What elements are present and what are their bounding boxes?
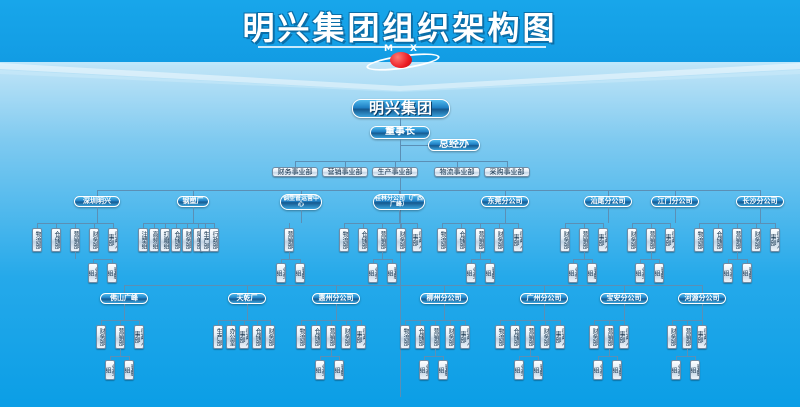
subgroup-node-label: 业务组 [593,362,603,378]
department-node-label: 财务部 [447,328,453,346]
department-node[interactable]: 行政人事部 [770,228,780,252]
department-node[interactable]: 行政部 [209,228,219,252]
subgroup-node-label: 业务组 [671,362,681,378]
division-node-label: 生产事业部 [378,167,413,177]
org-chart-poster: 明兴集团组织架构图 M X 明兴集团董事长总经办财务事业部营销事业部生产事业部物… [0,0,800,407]
subgroup-node-label: 客服组 [387,265,397,281]
subgroup-node-label: 业务组 [419,362,429,378]
subgroup-node[interactable]: 业务组 [315,360,325,380]
department-node[interactable]: 行政人事部 [134,325,144,349]
connector-tier1-bus [97,190,760,191]
branch-node-tier1-label: 汕尾分公司 [591,198,626,205]
subgroup-node[interactable]: 业务组 [568,263,578,283]
subgroup-node-label: 业务组 [88,265,98,281]
connector-branch-down [247,304,248,320]
department-node-label: 行政人事部 [697,327,707,347]
connector-to-subgroups [737,252,738,259]
department-node-label: 物流部 [402,328,408,346]
connector-branch-down [301,210,302,223]
subgroup-node-label: 客服组 [690,362,700,378]
department-node[interactable]: 生产部 [213,325,223,349]
subgroup-node[interactable]: 业务组 [514,360,524,380]
department-node-label: 物流部 [497,328,503,346]
connector-branch-down [193,207,194,223]
subgroup-node-label: 客服组 [107,265,117,281]
branch-node-tier2[interactable]: 广州分公司 [520,293,568,304]
department-node-label: 行政人事部 [239,327,249,347]
subgroup-node[interactable]: 客服组 [334,360,344,380]
department-node[interactable]: 行政人事部 [412,228,422,252]
department-node[interactable]: 营销部 [377,228,387,252]
department-node[interactable]: 财务部 [445,325,455,349]
subgroup-node[interactable]: 业务组 [671,360,681,380]
department-node[interactable]: 行政人事部 [356,325,366,349]
branch-node-tier1[interactable]: 汕尾分公司 [584,196,632,207]
department-node-label: 行政人事部 [665,230,675,250]
department-node[interactable]: 营销部 [682,325,692,349]
subgroup-node[interactable]: 业务组 [105,360,115,380]
connector-to-subgroups [382,252,383,259]
department-node[interactable]: 行政人事部 [239,325,249,349]
department-node-label: 物流部 [439,231,445,249]
subgroup-node-label: 客服组 [485,265,495,281]
department-node-label: 高频组 [151,231,157,249]
division-node: 采购事业部 [484,167,530,177]
department-node[interactable]: 营销部 [326,325,336,349]
department-node-label: 行政人事部 [108,230,118,250]
branch-node-tier2-label: 惠州分公司 [319,295,354,302]
branch-node-tier2-label: 广州分公司 [527,295,562,302]
connector-branch-down [97,207,98,223]
subgroup-node[interactable]: 客服组 [485,263,495,283]
department-node-label: 财务部 [496,231,502,249]
department-node[interactable]: 营销部 [646,228,656,252]
branch-node-tier2[interactable]: 佛山广峰 [100,293,148,304]
branch-node-tier2-label: 宝安分公司 [607,295,642,302]
department-node-label: 仓储部 [360,231,366,249]
department-node-label: 行政人事部 [513,230,523,250]
department-node[interactable]: 仓储部 [171,228,181,252]
department-node-label: 生产部 [215,328,221,346]
connector-subgroup-bus [110,356,129,357]
division-node-label: 财务事业部 [278,167,313,177]
department-node[interactable]: 行政人事部 [619,325,629,349]
subgroup-node-label: 业务组 [635,265,645,281]
branch-node-tier2-label: 佛山广峰 [110,295,138,302]
department-node-label: 仓储部 [458,231,464,249]
node-chairman-label: 董事长 [385,127,415,138]
subgroup-node[interactable]: 业务组 [593,360,603,380]
department-node-label: 财务部 [591,328,597,346]
branch-node-tier1-label: 东莞分公司 [488,198,523,205]
department-node[interactable]: 营销部 [430,325,440,349]
subgroup-node[interactable]: 客服组 [107,263,117,283]
subgroup-node[interactable]: 客服组 [124,360,134,380]
department-node[interactable]: 注塑组 [138,228,148,252]
subgroup-node[interactable]: 客服组 [295,263,305,283]
branch-node-tier1-label: 深圳明兴 [83,198,111,205]
division-node-label: 采购事业部 [490,167,525,177]
department-node[interactable]: 物流部 [296,325,306,349]
connector-divisions-bus [295,161,507,162]
subgroup-node[interactable]: 客服组 [438,360,448,380]
department-node-label: 营销部 [606,328,612,346]
department-node-label: 营销部 [117,328,123,346]
department-node-label: 物流部 [696,231,702,249]
department-node[interactable]: 营销部 [604,325,614,349]
branch-node-tier1[interactable]: 深圳明兴 [74,196,120,207]
department-node[interactable]: 营销部 [525,325,535,349]
department-node[interactable]: 物流部 [339,228,349,252]
connector-branch-down [444,304,445,320]
department-node-label: 财务部 [542,328,548,346]
subgroup-node[interactable]: 业务组 [419,360,429,380]
department-node-label: 财务部 [91,231,97,249]
connector-branch-down [675,207,676,223]
branch-node-tier2-label: 柳州分公司 [427,295,462,302]
connector-to-subgroups [480,252,481,259]
department-node[interactable]: 营销部 [115,325,125,349]
department-node[interactable]: 仓储部 [358,228,368,252]
division-node: 营销事业部 [322,167,368,177]
department-node[interactable]: 仓储部 [456,228,466,252]
department-node-label: 打磨组 [162,231,168,249]
subgroup-node[interactable]: 客服组 [533,360,543,380]
division-node: 生产事业部 [372,167,418,177]
division-node-label: 营销事业部 [328,167,363,177]
subgroup-node-label: 业务组 [315,362,325,378]
department-node-label: 仓储部 [417,328,423,346]
department-node[interactable]: 财务部 [751,228,761,252]
department-node-label: 仓储部 [512,328,518,346]
department-node-label: 注塑组 [140,231,146,249]
department-node-label: 生产部 [202,231,208,249]
connector-branch-down [608,207,609,223]
subgroup-node[interactable]: 客服组 [654,263,664,283]
subgroup-node-label: 客服组 [533,362,543,378]
department-node-label: 财务部 [562,231,568,249]
connector-subgroup-bus [424,356,443,357]
department-node-label: 物流部 [34,231,40,249]
department-node-label: 仓储部 [313,328,319,346]
connector-subgroup-bus [676,356,695,357]
connector-subgroup-bus [573,259,592,260]
department-node-label: 仓储部 [715,231,721,249]
department-node-label: 行政人事部 [134,327,144,347]
department-node-label: 营销部 [286,231,292,249]
subgroup-node[interactable]: 业务组 [723,263,733,283]
department-node[interactable]: 营销部 [579,228,589,252]
connector-to-subgroups [289,252,290,259]
department-node-label: 财务部 [753,231,759,249]
department-node[interactable]: 打磨组 [160,228,170,252]
department-node[interactable]: 物流部 [495,325,505,349]
connector-branch-down [760,207,761,223]
department-node[interactable]: 仓储部 [51,228,61,252]
connector-tier2-stem [544,285,545,293]
department-node[interactable]: 仓储部 [415,325,425,349]
department-node-label: 营销部 [432,328,438,346]
subgroup-node-label: 客服组 [587,265,597,281]
connector-tier2-stem [124,285,125,293]
subgroup-node[interactable]: 业务组 [368,263,378,283]
department-node-label: 行政人事部 [460,327,470,347]
subgroup-node-label: 客服组 [124,362,134,378]
branch-node-tier2[interactable]: 宝安分公司 [600,293,648,304]
branch-node-tier1-label: 长沙分公司 [743,198,778,205]
department-node-label: 仓储部 [254,328,260,346]
connector-tier2-stem [624,285,625,293]
department-node[interactable]: 财务部 [627,228,637,252]
subgroup-node-label: 业务组 [723,265,733,281]
department-node[interactable]: 财务部 [667,325,677,349]
branch-node-tier1-label: 钢塑厂 [183,198,204,205]
branch-node-tier1[interactable]: 桂林分公司（广西广峰） [373,194,425,210]
connector-to-subgroups [687,349,688,356]
department-node[interactable]: 财务部 [494,228,504,252]
department-node-label: 仓储部 [53,231,59,249]
department-node-label: 营销部 [328,328,334,346]
logo-letter-x: X [410,44,417,54]
department-node-label: 营销部 [527,328,533,346]
department-node[interactable]: 行政人事部 [460,325,470,349]
branch-node-tier1[interactable]: 长沙分公司 [736,196,784,207]
department-node[interactable]: 财务部 [265,325,275,349]
department-node-label: 行政人事部 [356,327,366,347]
subgroup-node[interactable]: 客服组 [387,263,397,283]
department-node[interactable]: 财务部 [589,325,599,349]
department-node[interactable]: 物流部 [400,325,410,349]
mx-planet-logo: M X [366,44,436,70]
connector-to-subgroups [435,349,436,356]
branch-node-tier2[interactable]: 天乾厂 [228,293,266,304]
connector-chairman-to-divisions [400,149,401,161]
department-node-label: 营销部 [581,231,587,249]
department-node[interactable]: 仓储部 [252,325,262,349]
department-node-label: 财务部 [629,231,635,249]
node-chairman: 董事长 [370,126,430,139]
branch-node-tier2[interactable]: 惠州分公司 [312,293,360,304]
subgroup-node-label: 业务组 [514,362,524,378]
branch-node-tier1[interactable]: 东莞分公司 [481,196,529,207]
subgroup-node-label: 业务组 [368,265,378,281]
connector-subgroup-bus [320,356,339,357]
subgroup-node[interactable]: 客服组 [612,360,622,380]
connector-branch-down [124,304,125,320]
subgroup-node[interactable]: 业务组 [88,263,98,283]
logo-sphere [390,52,412,68]
connector-branch-down [544,304,545,320]
subgroup-node-label: 客服组 [742,265,752,281]
department-node[interactable]: 行政人事部 [665,228,675,252]
connector-subgroup-bus [640,259,659,260]
logo-letter-m: M [384,44,393,54]
department-node[interactable]: 营销部 [70,228,80,252]
subgroup-node-label: 业务组 [276,265,286,281]
subgroup-node-label: 业务组 [568,265,578,281]
connector-chairman-down [400,139,401,149]
subgroup-node-label: 客服组 [654,265,664,281]
department-node[interactable]: 营销部 [475,228,485,252]
department-node-label: 行政人事部 [555,327,565,347]
department-node-label: 营销部 [379,231,385,249]
connector-dept-bus [344,223,417,224]
department-node[interactable]: 仓储部 [510,325,520,349]
department-node-label: 财务部 [184,231,190,249]
connector-subgroup-bus [728,259,747,260]
connector-tier2-stem [444,285,445,293]
department-node[interactable]: 行政人事部 [108,228,118,252]
department-node-label: 营销部 [684,328,690,346]
subgroup-node[interactable]: 业务组 [466,263,476,283]
department-node[interactable]: 高频组 [149,228,159,252]
branch-node-tier2[interactable]: 河源分公司 [678,293,726,304]
branch-node-tier2-label: 天乾厂 [237,295,258,302]
department-node[interactable]: 财务部 [341,325,351,349]
branch-node-tier1-label: 江门分公司 [658,198,693,205]
subgroup-node[interactable]: 客服组 [742,263,752,283]
subgroup-node-label: 业务组 [466,265,476,281]
department-node[interactable]: 物流部 [32,228,42,252]
department-node-label: 物流部 [298,328,304,346]
subgroup-node[interactable]: 客服组 [587,263,597,283]
connector-to-subgroups [584,252,585,259]
department-node-label: 仓储部 [173,231,179,249]
connector-subgroup-bus [93,259,112,260]
connector-subgroup-bus [281,259,300,260]
department-node-label: 营销部 [72,231,78,249]
connector-tier2-stem [336,285,337,293]
department-node-label: 行政人事部 [619,327,629,347]
department-node[interactable]: 物流部 [437,228,447,252]
subgroup-node-label: 客服组 [334,362,344,378]
department-node-label: 营销部 [734,231,740,249]
department-node[interactable]: 仓储部 [311,325,321,349]
department-node[interactable]: 仓储部 [713,228,723,252]
subgroup-node[interactable]: 客服组 [690,360,700,380]
connector-main-spine [400,177,401,397]
connector-branch-down [399,210,400,223]
department-node-label: 营销部 [648,231,654,249]
connector-branch-down [505,207,506,223]
connector-tier2-bus [124,285,702,286]
department-node-label: 财务部 [343,328,349,346]
department-node-label: 办公室 [228,328,234,346]
subgroup-node-label: 客服组 [295,265,305,281]
division-node: 财务事业部 [272,167,318,177]
connector-to-subgroups [75,252,76,259]
connector-root-to-chairman [400,118,401,126]
subgroup-node[interactable]: 业务组 [276,263,286,283]
department-node[interactable]: 营销部 [732,228,742,252]
connector-to-subgroups [651,252,652,259]
connector-to-subgroups [609,349,610,356]
connector-to-subgroups [331,349,332,356]
connector-to-gm-office [400,145,428,146]
branch-node-tier2[interactable]: 柳州分公司 [420,293,468,304]
connector-to-subgroups [530,349,531,356]
department-node[interactable]: 行政人事部 [555,325,565,349]
department-node[interactable]: 行政人事部 [513,228,523,252]
department-node[interactable]: 办公室 [226,325,236,349]
root-node: 明兴集团 [352,99,450,118]
department-node-label: 行政人事部 [412,230,422,250]
connector-to-subgroups [120,349,121,356]
department-node[interactable]: 物流部 [694,228,704,252]
connector-subgroup-bus [471,259,490,260]
department-node[interactable]: 财务部 [182,228,192,252]
connector-subgroup-bus [373,259,392,260]
department-node[interactable]: 财务部 [540,325,550,349]
branch-node-tier1[interactable]: 钢塑厂 [177,196,209,207]
department-node[interactable]: 营销部 [284,228,294,252]
branch-node-tier1[interactable]: 钢塑管运营中心 [280,194,322,210]
department-node-label: 财务部 [98,328,104,346]
branch-node-tier2-label: 河源分公司 [685,295,720,302]
department-node-label: 营销部 [477,231,483,249]
department-node[interactable]: 财务部 [89,228,99,252]
subgroup-node[interactable]: 业务组 [635,263,645,283]
connector-branch-down [336,304,337,320]
department-node-label: 物流部 [341,231,347,249]
department-node[interactable]: 财务部 [96,325,106,349]
connector-subgroup-bus [519,356,538,357]
department-node-label: 财务部 [267,328,273,346]
department-node-label: 行政部 [211,231,217,249]
subgroup-node-label: 业务组 [105,362,115,378]
department-node[interactable]: 行政人事部 [697,325,707,349]
node-general-manager-office: 总经办 [428,139,480,151]
branch-node-tier1-label: 钢塑管运营中心 [281,196,321,209]
connector-tier2-stem [702,285,703,293]
subgroup-node-label: 客服组 [438,362,448,378]
division-node-label: 物流事业部 [440,167,475,177]
connector-subgroup-bus [598,356,617,357]
connector-branch-down [702,304,703,320]
branch-node-tier1[interactable]: 江门分公司 [651,196,699,207]
department-node[interactable]: 财务部 [560,228,570,252]
department-node-label: 财务部 [669,328,675,346]
connector-branch-down [624,304,625,320]
department-node-label: 行政人事部 [598,230,608,250]
department-node-label: 财务部 [398,231,404,249]
root-node-label: 明兴集团 [369,101,433,117]
department-node[interactable]: 财务部 [396,228,406,252]
subgroup-node-label: 客服组 [612,362,622,378]
department-node-label: 行政人事部 [770,230,780,250]
page-title: 明兴集团组织架构图 [0,12,800,44]
branch-node-tier1-label: 桂林分公司（广西广峰） [374,196,424,209]
division-node: 物流事业部 [434,167,480,177]
connector-tier2-stem [247,285,248,293]
node-general-manager-office-label: 总经办 [439,140,469,151]
department-node[interactable]: 行政人事部 [598,228,608,252]
